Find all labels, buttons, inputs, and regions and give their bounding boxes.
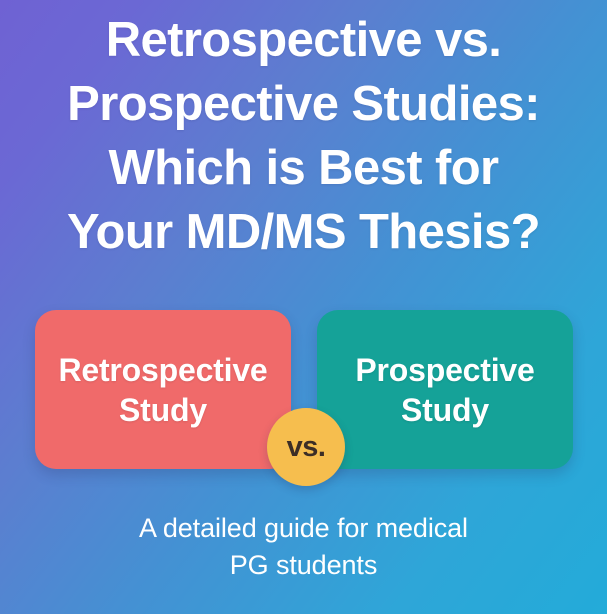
card-retrospective-label-line-1: Retrospective (58, 352, 267, 388)
title-line-3: Which is Best for (18, 136, 589, 200)
subtitle: A detailed guide for medical PG students (0, 510, 607, 584)
page-title: Retrospective vs. Prospective Studies: W… (0, 8, 607, 264)
title-line-1: Retrospective vs. (18, 8, 589, 72)
subtitle-line-2: PG students (20, 547, 587, 584)
card-prospective-label-line-2: Study (355, 390, 534, 430)
title-line-4: Your MD/MS Thesis? (18, 200, 589, 264)
card-retrospective-label: Retrospective Study (48, 350, 277, 430)
versus-badge-label: vs. (287, 433, 326, 462)
comparison-cards-row: Retrospective Study Prospective Study vs… (0, 296, 607, 472)
card-retrospective-label-line-2: Study (58, 390, 267, 430)
card-prospective-label: Prospective Study (345, 350, 544, 430)
card-prospective-study: Prospective Study (317, 310, 573, 469)
infographic-poster: Retrospective vs. Prospective Studies: W… (0, 0, 607, 614)
card-prospective-label-line-1: Prospective (355, 352, 534, 388)
subtitle-line-1: A detailed guide for medical (20, 510, 587, 547)
title-line-2: Prospective Studies: (18, 72, 589, 136)
versus-badge: vs. (267, 408, 345, 486)
card-retrospective-study: Retrospective Study (35, 310, 291, 469)
